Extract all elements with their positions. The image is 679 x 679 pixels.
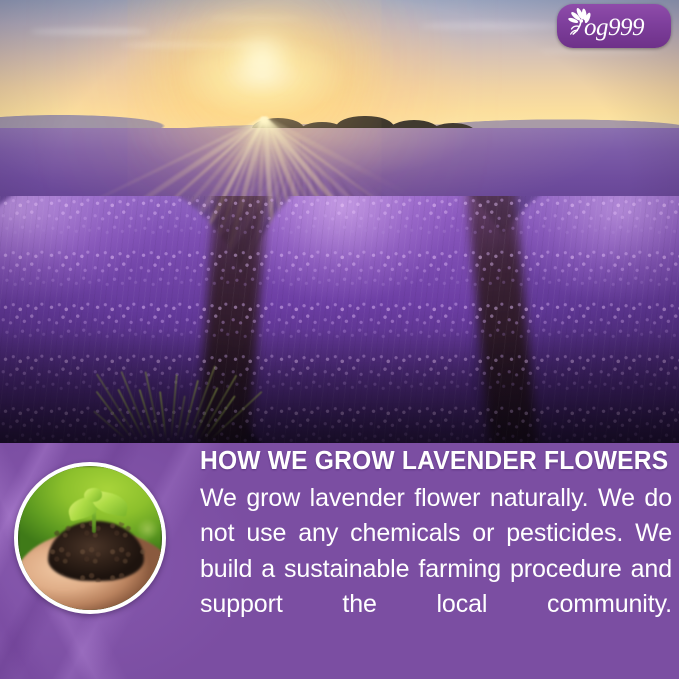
seedling-thumbnail <box>14 462 166 614</box>
cloud <box>210 16 300 21</box>
cloud <box>540 48 660 54</box>
panel-body-text: We grow lavender flower naturally. We do… <box>200 481 672 659</box>
lavender-flower-speckle <box>0 196 679 444</box>
grass-tuft <box>112 352 232 440</box>
hero-image-lavender-field <box>0 0 679 444</box>
panel-text-block: HOW WE GROW LAVENDER FLOWERS We grow lav… <box>200 448 672 658</box>
cloud <box>120 42 270 48</box>
soil-texture <box>46 518 146 582</box>
grass-blade <box>159 391 167 440</box>
product-info-card: og999 HOW WE GROW LAVENDER FLOWERS We gr… <box>0 0 679 679</box>
brand-logo-badge[interactable]: og999 <box>557 4 671 48</box>
panel-heading: HOW WE GROW LAVENDER FLOWERS <box>200 448 655 475</box>
cloud <box>30 28 150 35</box>
brand-name: og999 <box>584 15 644 40</box>
foreground-lavender-bushes <box>0 196 679 444</box>
cloud <box>420 22 560 30</box>
